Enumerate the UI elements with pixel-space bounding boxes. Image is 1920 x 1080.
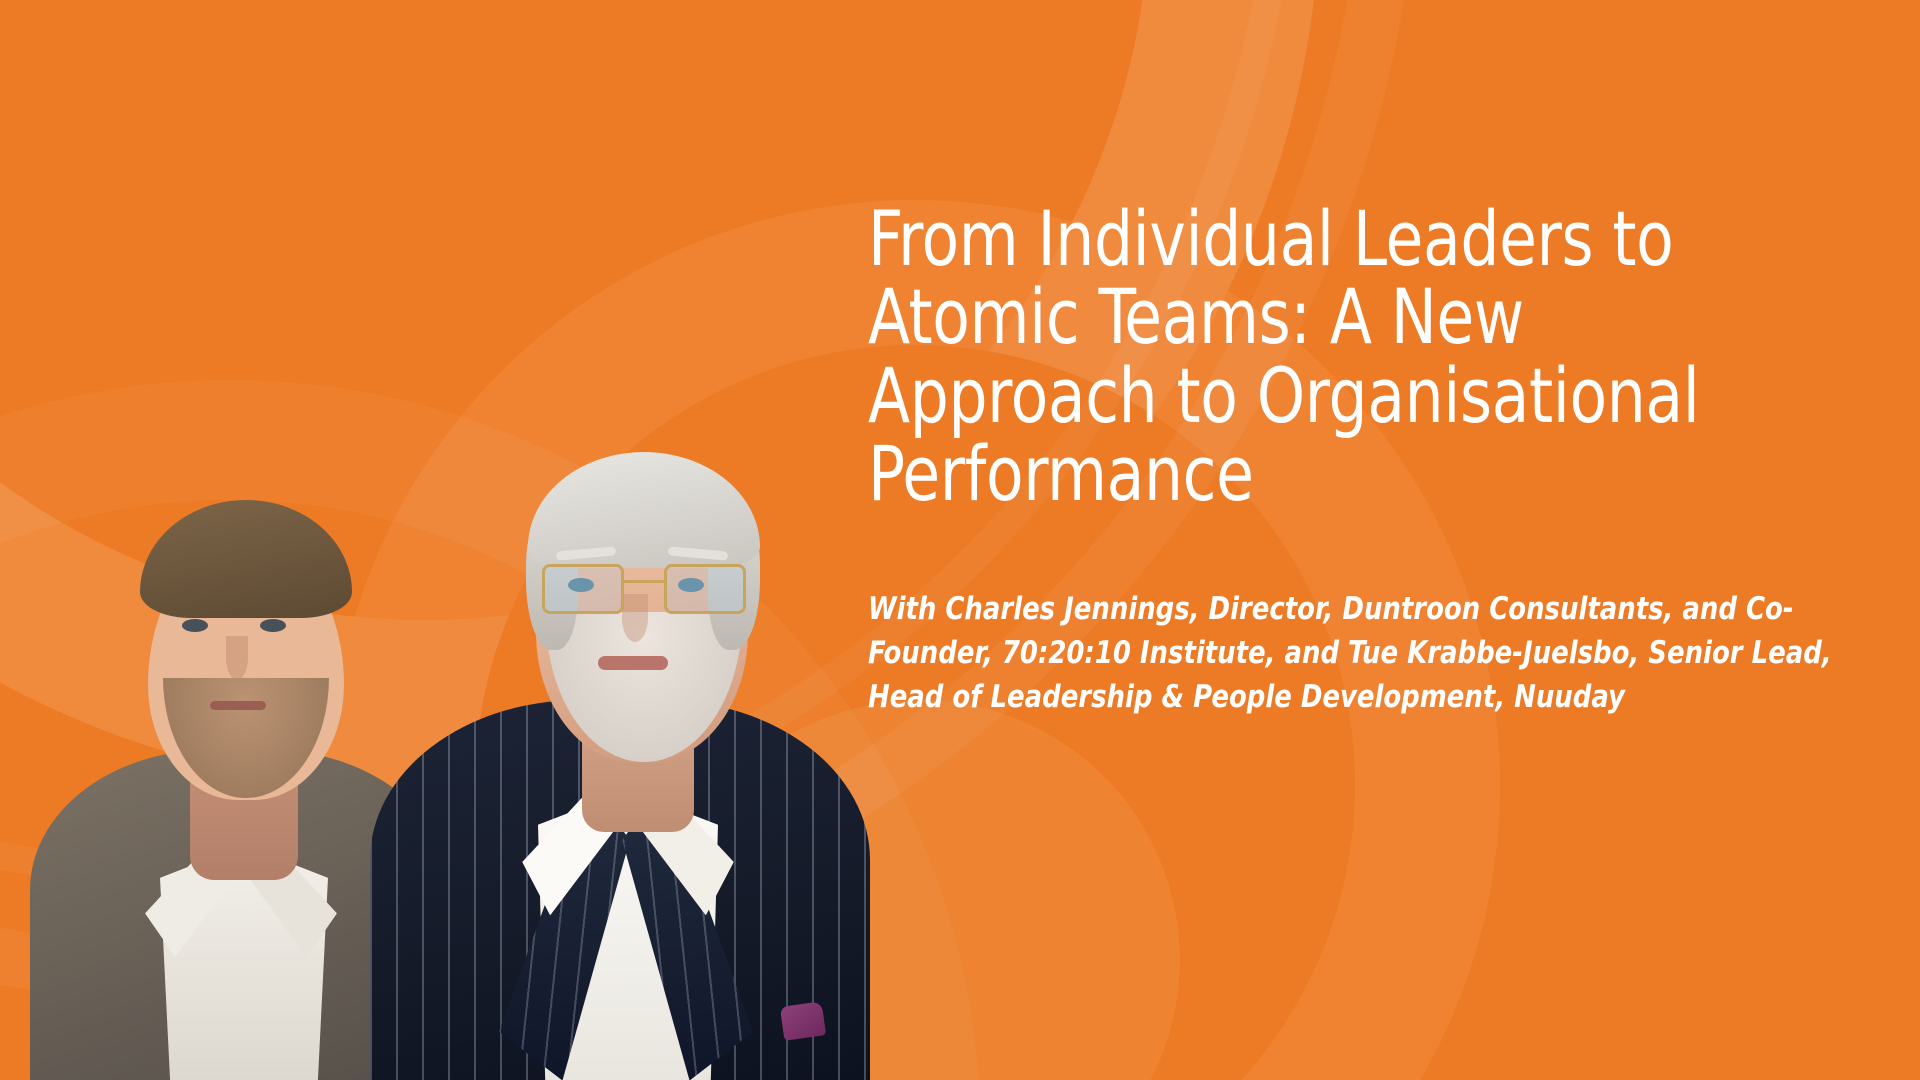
eye-left [182,619,208,632]
mouth [210,701,266,710]
eyebrows [556,549,728,558]
speaker-portraits [0,260,1000,1080]
pocket-square [780,1001,826,1041]
glasses-bridge [622,580,666,583]
glasses-lens-right [664,564,746,614]
glasses-icon [540,564,748,610]
banner-text-block: From Individual Leaders to Atomic Teams:… [868,200,1908,719]
speaker-credits: With Charles Jennings, Director, Duntroo… [868,587,1835,719]
nose [226,636,248,680]
mouth [598,656,668,670]
webinar-banner: From Individual Leaders to Atomic Teams:… [0,0,1920,1080]
page-title: From Individual Leaders to Atomic Teams:… [868,200,1804,513]
portrait-speaker-right [370,250,870,1080]
hair [140,500,352,618]
eye-right [260,619,286,632]
glasses-lens-left [542,564,624,614]
